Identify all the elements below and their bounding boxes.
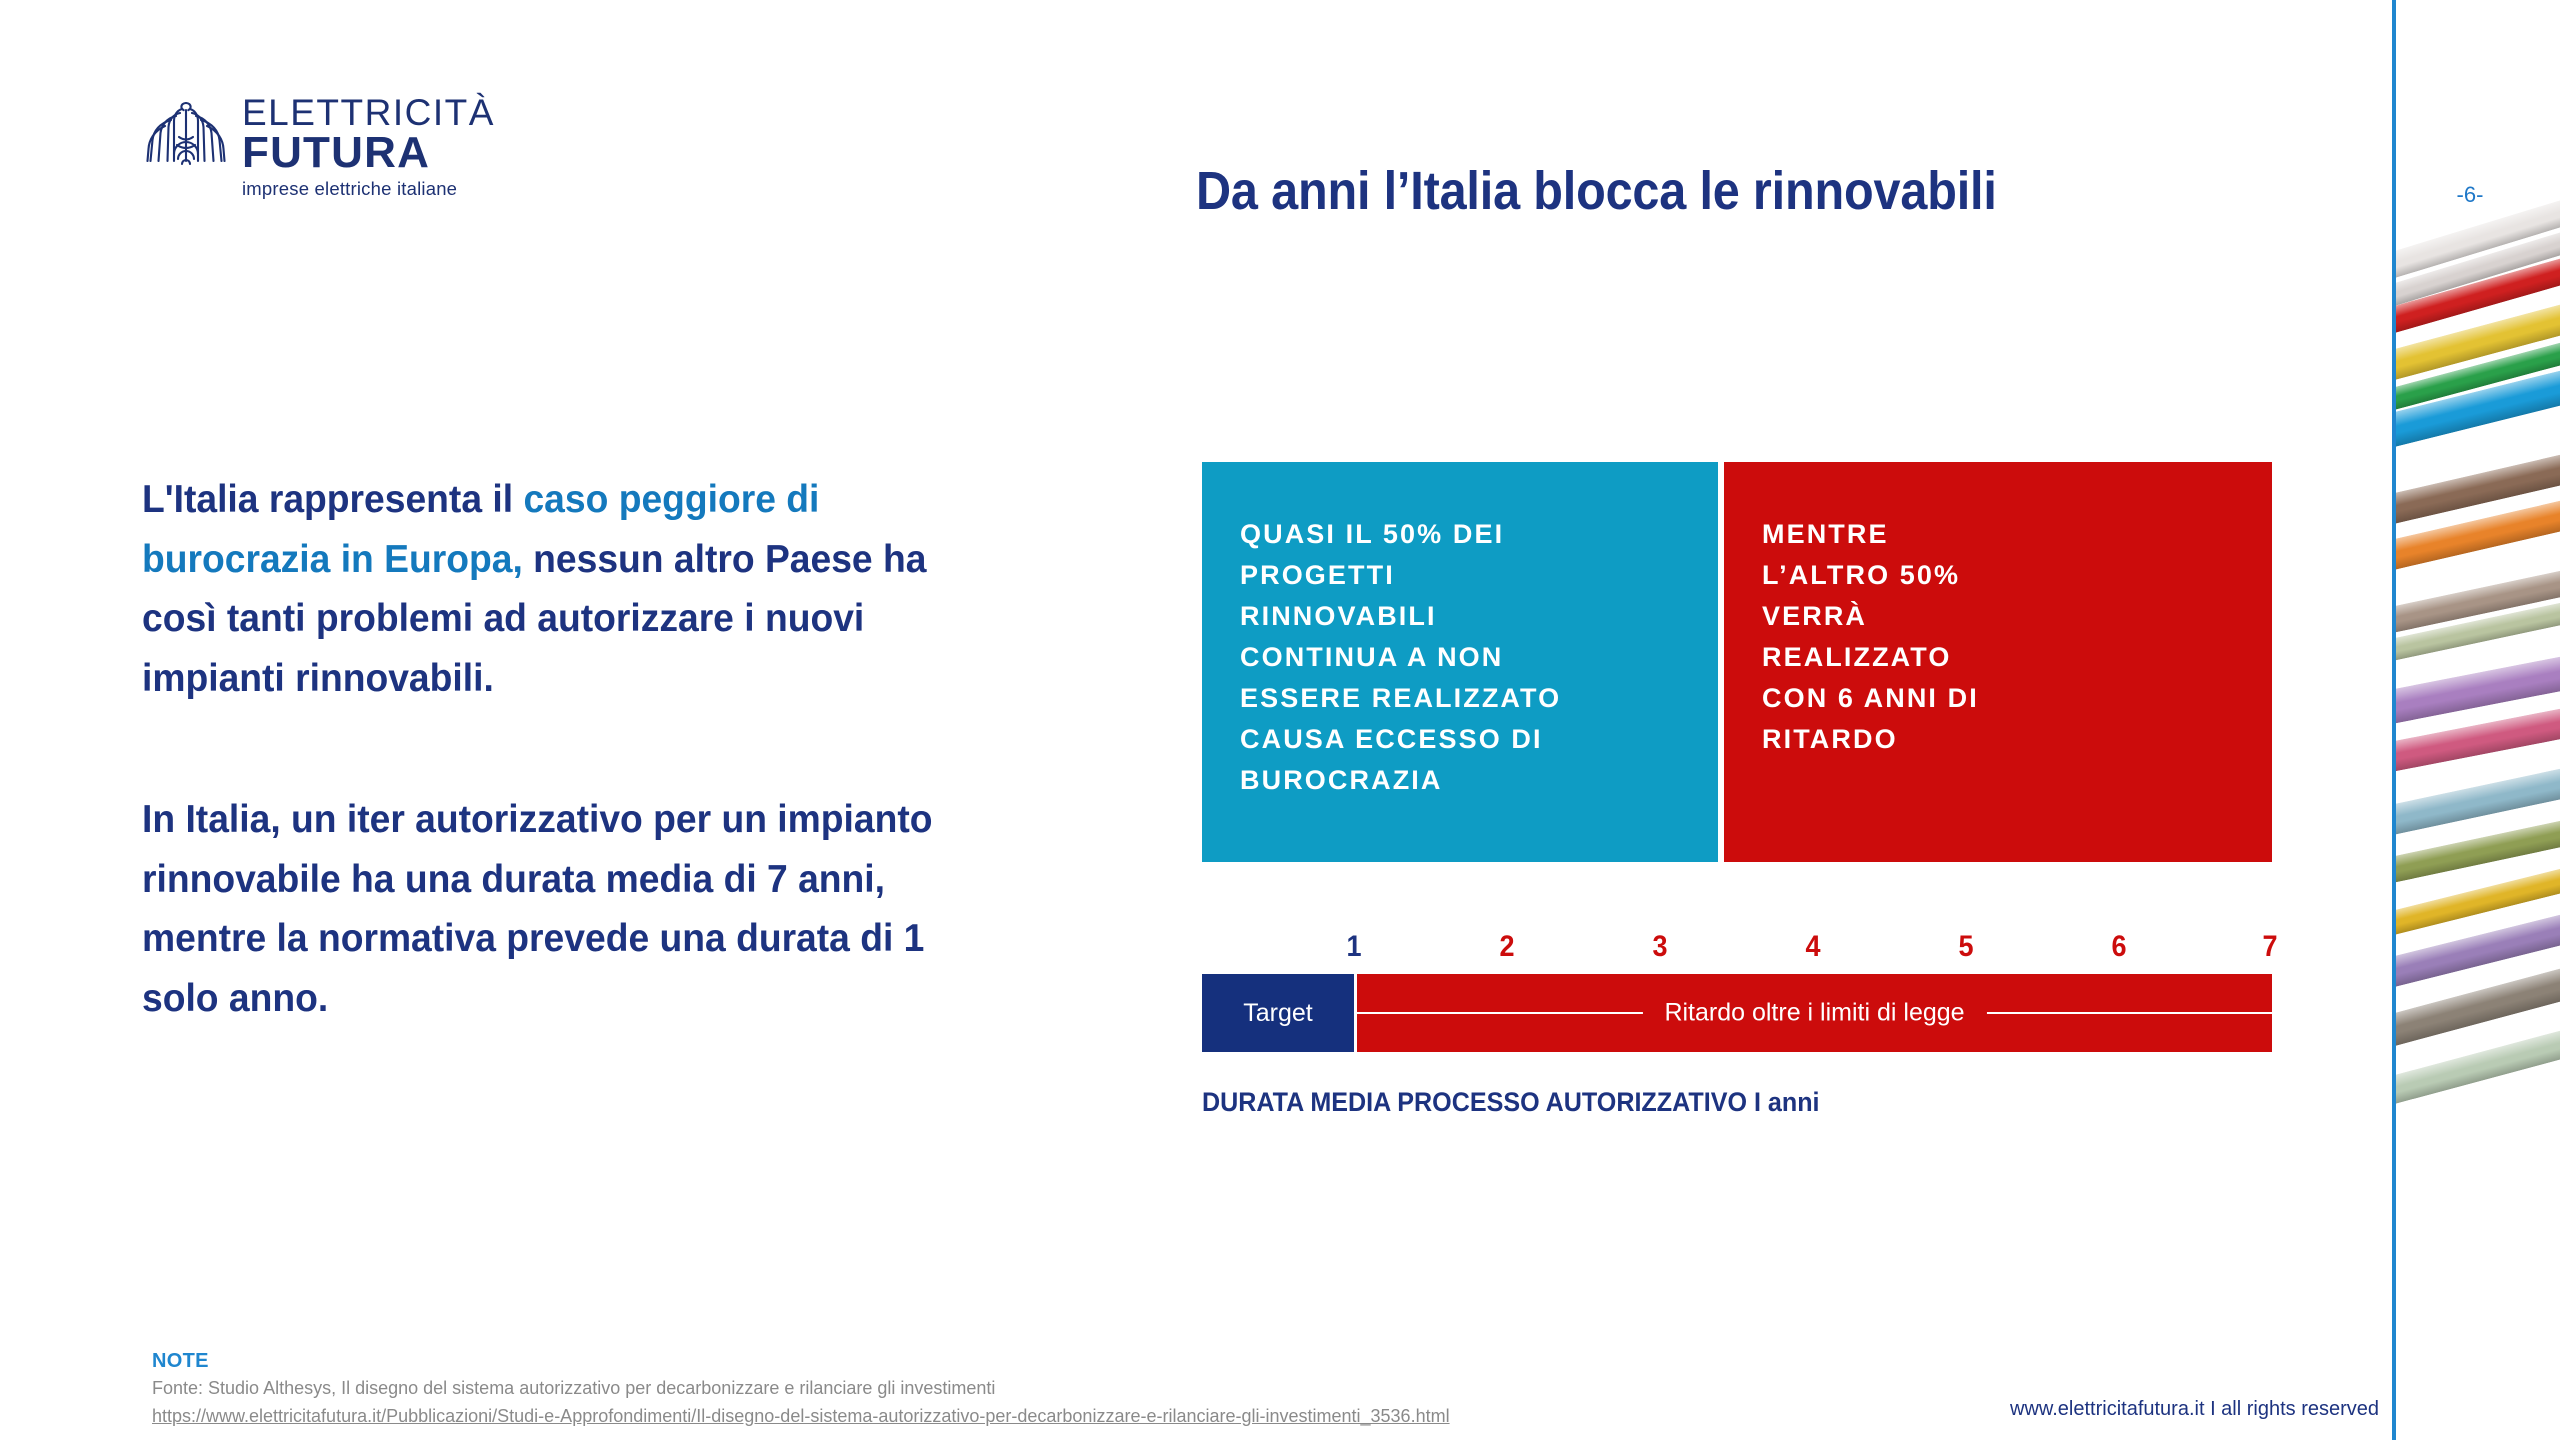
page-number: -6-	[2457, 182, 2484, 208]
callout-box-red: MENTRE L’ALTRO 50% VERRÀ REALIZZATO CON …	[1724, 462, 2272, 862]
timeline-segment-delay: Ritardo oltre i limiti di legge	[1357, 974, 2272, 1052]
timeline-tick-row: 1 2 3 4 5 6 7	[1202, 930, 2272, 974]
tick-label-7: 7	[2262, 930, 2277, 964]
slide-root: ELETTRICITÀ FUTURA imprese elettriche it…	[0, 0, 2560, 1440]
logo-name-line2: FUTURA	[242, 131, 502, 176]
tick-label-6: 6	[2111, 930, 2126, 964]
tick-label-5: 5	[1958, 930, 1973, 964]
logo-tagline: imprese elettriche italiane	[242, 179, 502, 199]
tick-label-4: 4	[1805, 930, 1820, 964]
duration-timeline-chart: 1 2 3 4 5 6 7 Target Ritardo oltre i lim…	[1202, 930, 2272, 1052]
note-title: NOTE	[152, 1350, 209, 1373]
note-source: Fonte: Studio Althesys, Il disegno del s…	[152, 1378, 995, 1399]
footer-rights: www.elettricitafutura.it I all rights re…	[2010, 1398, 2379, 1421]
page-title: Da anni l’Italia blocca le rinnovabili	[1196, 160, 2204, 222]
timeline-segment-target: Target	[1202, 974, 1354, 1052]
callout-group: QUASI IL 50% DEI PROGETTI RINNOVABILI CO…	[1202, 462, 2272, 862]
tick-label-1: 1	[1346, 930, 1361, 964]
tick-label-3: 3	[1652, 930, 1667, 964]
paragraph-1-lead: L'Italia rappresenta il	[142, 478, 523, 521]
chart-caption: DURATA MEDIA PROCESSO AUTORIZZATIVO I an…	[1202, 1087, 1820, 1118]
colored-cables-photo	[2396, 0, 2560, 1440]
eagle-emblem-icon	[138, 96, 234, 174]
brand-logo: ELETTRICITÀ FUTURA imprese elettriche it…	[138, 96, 498, 188]
timeline-bar: Target Ritardo oltre i limiti di legge	[1202, 974, 2272, 1052]
callout-box-cyan: QUASI IL 50% DEI PROGETTI RINNOVABILI CO…	[1202, 462, 1718, 862]
timeline-delay-label: Ritardo oltre i limiti di legge	[1642, 999, 1986, 1028]
note-source-link[interactable]: https://www.elettricitafutura.it/Pubblic…	[152, 1406, 1450, 1427]
body-paragraph-2: In Italia, un iter autorizzativo per un …	[142, 790, 982, 1029]
logo-name-line1: ELETTRICITÀ	[242, 94, 502, 131]
vertical-rule	[2392, 0, 2396, 1440]
tick-label-2: 2	[1499, 930, 1514, 964]
body-paragraph-1: L'Italia rappresenta il caso peggiore di…	[142, 470, 982, 709]
